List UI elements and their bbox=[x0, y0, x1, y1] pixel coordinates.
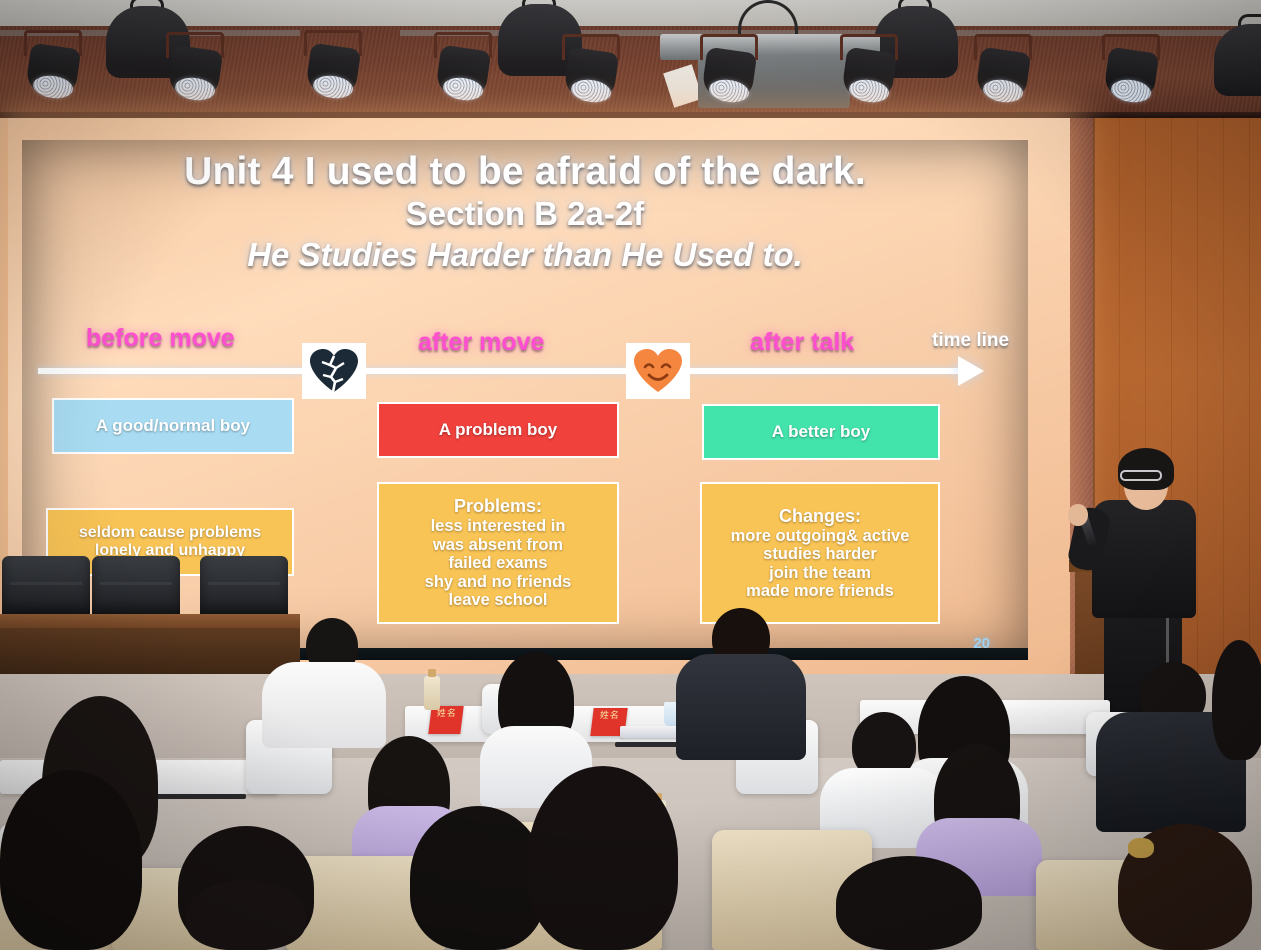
audience-table-3-leg bbox=[150, 794, 246, 799]
timeline-axis bbox=[38, 368, 978, 374]
stage-card-good-boy-label: A good/normal boy bbox=[96, 416, 250, 436]
stage-card-better-boy-label: A better boy bbox=[772, 422, 871, 442]
par-light-5 bbox=[560, 34, 622, 108]
person-hair bbox=[528, 766, 678, 950]
slide-title-line-2: Section B 2a-2f bbox=[22, 193, 1028, 234]
stage-chair-3 bbox=[200, 556, 288, 618]
detail-card-problems-line-2: was absent from bbox=[433, 536, 563, 554]
stage-card-good-boy: A good/normal boy bbox=[52, 398, 294, 454]
par-light-8 bbox=[972, 34, 1034, 108]
detail-card-before-line-1: seldom cause problems bbox=[79, 524, 261, 542]
stage-chair-1 bbox=[2, 556, 90, 618]
detail-card-changes-heading: Changes: bbox=[779, 506, 861, 527]
smiling-heart-icon bbox=[626, 343, 690, 399]
broken-heart-icon bbox=[302, 343, 366, 399]
par-light-1 bbox=[22, 30, 84, 104]
timeline-axis-label: time line bbox=[932, 330, 1009, 352]
classroom-scene: Unit 4 I used to be afraid of the dark. … bbox=[0, 0, 1261, 950]
detail-card-problems-line-4: shy and no friends bbox=[425, 573, 572, 591]
person-hair bbox=[0, 770, 142, 950]
par-light-4 bbox=[432, 32, 494, 106]
detail-card-changes-line-2: studies harder bbox=[763, 545, 877, 563]
detail-card-problems-line-3: failed exams bbox=[448, 554, 547, 572]
stage-card-problem-boy-label: A problem boy bbox=[439, 420, 557, 440]
timeline-label-after-move: after move bbox=[418, 328, 544, 357]
detail-card-problems-heading: Problems: bbox=[454, 496, 542, 517]
par-light-6 bbox=[698, 34, 760, 108]
stage-card-problem-boy: A problem boy bbox=[377, 402, 619, 458]
par-light-9 bbox=[1100, 34, 1162, 108]
person-hair bbox=[186, 880, 306, 950]
person-jacket bbox=[676, 654, 806, 760]
timeline-label-after-talk: after talk bbox=[750, 328, 854, 357]
name-card-2-text: 姓名 bbox=[592, 708, 628, 720]
par-light-7 bbox=[838, 34, 900, 108]
timeline-label-before-move: before move bbox=[86, 324, 235, 353]
detail-card-problems-line-5: leave school bbox=[448, 591, 547, 609]
par-light-3 bbox=[302, 30, 364, 104]
stage-table-body bbox=[0, 628, 300, 674]
par-light-2 bbox=[164, 32, 226, 106]
person-shirt bbox=[262, 662, 386, 748]
detail-card-problems-line-1: less interested in bbox=[431, 517, 566, 535]
name-card-1: 姓名 bbox=[428, 706, 463, 734]
timeline-arrowhead bbox=[958, 356, 984, 386]
hair-clip-icon bbox=[1128, 838, 1154, 858]
detail-card-changes: Changes: more outgoing& active studies h… bbox=[700, 482, 940, 624]
detail-card-problems: Problems: less interested in was absent … bbox=[377, 482, 619, 624]
person-hair bbox=[1212, 640, 1261, 760]
person-hair bbox=[410, 806, 546, 950]
detail-card-changes-line-3: join the team bbox=[769, 564, 871, 582]
presenter-hand bbox=[1068, 504, 1088, 526]
slide-title-block: Unit 4 I used to be afraid of the dark. … bbox=[22, 152, 1028, 277]
paper-stack-1 bbox=[620, 726, 680, 738]
detail-card-changes-line-4: made more friends bbox=[746, 582, 894, 600]
slide-title-line-1: Unit 4 I used to be afraid of the dark. bbox=[22, 152, 1028, 193]
presenter-hair bbox=[1118, 448, 1174, 490]
person-hair bbox=[836, 856, 982, 950]
stage-spotlight-upper-4 bbox=[1208, 16, 1261, 114]
stage-chair-2 bbox=[92, 556, 180, 618]
glasses-icon bbox=[1120, 470, 1162, 481]
drink-bottle-1 bbox=[424, 676, 440, 710]
slide-title-line-3: He Studies Harder than He Used to. bbox=[22, 234, 1028, 277]
detail-card-changes-line-1: more outgoing& active bbox=[731, 527, 910, 545]
stage-card-better-boy: A better boy bbox=[702, 404, 940, 460]
